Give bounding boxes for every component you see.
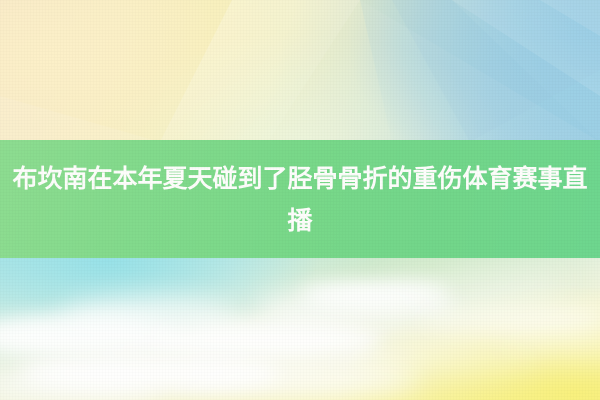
headline-banner: 布坎南在本年夏天碰到了胫骨骨折的重伤体育赛事直播 <box>0 140 600 259</box>
sky-background <box>0 258 600 400</box>
polygon-facets-decoration <box>0 0 600 142</box>
image-canvas: 布坎南在本年夏天碰到了胫骨骨折的重伤体育赛事直播 <box>0 0 600 400</box>
top-background <box>0 0 600 142</box>
cloud-shape <box>380 268 570 298</box>
cloud-shape <box>330 344 540 370</box>
cloud-shape <box>90 338 260 362</box>
headline-text: 布坎南在本年夏天碰到了胫骨骨折的重伤体育赛事直播 <box>2 158 598 242</box>
